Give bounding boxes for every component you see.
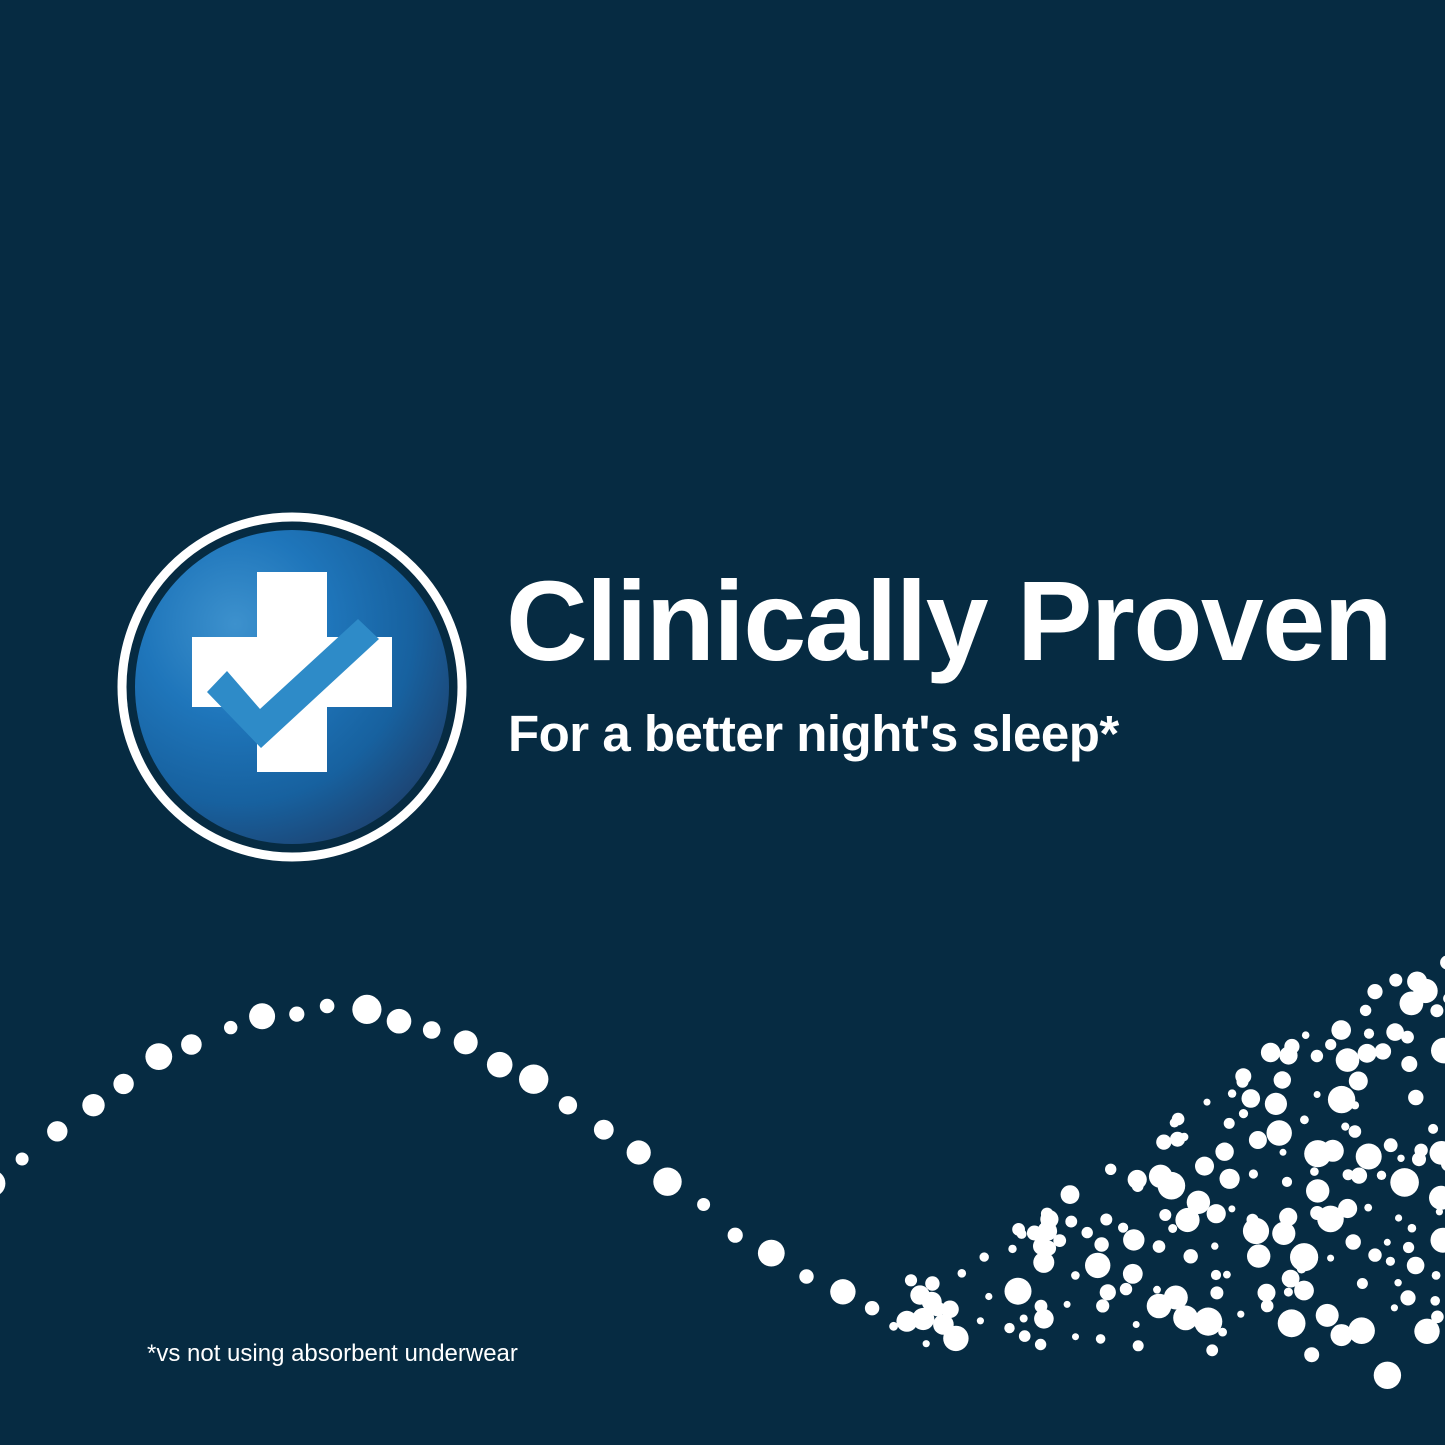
headline-block: Clinically Proven For a better night's s… <box>506 565 1386 759</box>
clinically-proven-badge <box>117 512 467 862</box>
page-subtitle: For a better night's sleep* <box>508 708 1386 759</box>
footnote-disclaimer: *vs not using absorbent underwear <box>147 1340 518 1368</box>
promo-graphic: Clinically Proven For a better night's s… <box>0 0 1445 1445</box>
page-title: Clinically Proven <box>506 565 1386 678</box>
